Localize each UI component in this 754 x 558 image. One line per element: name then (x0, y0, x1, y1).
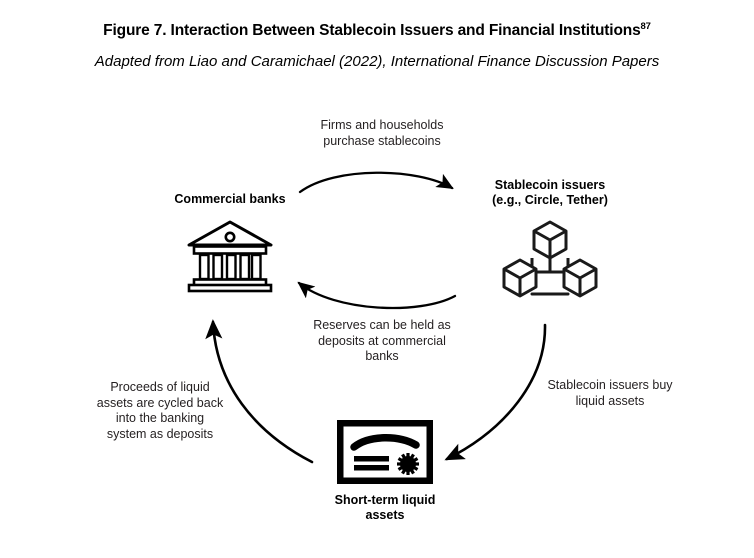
edge-caption-banks-to-issuers: Firms and households purchase stablecoin… (277, 118, 487, 149)
cycle-diagram: Commercial banks Stablecoin issuers (e.g… (0, 0, 754, 558)
blockchain-cubes-icon (502, 218, 598, 306)
node-short-term-liquid-assets-label-line1: Short-term liquid (290, 493, 480, 508)
edge-caption-line: system as deposits (75, 427, 245, 443)
node-short-term-liquid-assets[interactable]: Short-term liquid assets (290, 420, 480, 523)
node-short-term-liquid-assets-label-line2: assets (290, 508, 480, 523)
edge-caption-line: deposits at commercial (277, 334, 487, 350)
arrow-banks-to-issuers (300, 173, 452, 192)
node-commercial-banks[interactable]: Commercial banks (135, 192, 325, 293)
edge-caption-line: Reserves can be held as (277, 318, 487, 334)
edge-caption-issuers-to-liquid-assets: Stablecoin issuers buy liquid assets (520, 378, 700, 409)
edge-caption-line: Proceeds of liquid (75, 380, 245, 396)
edge-caption-liquid-assets-to-banks: Proceeds of liquid assets are cycled bac… (75, 380, 245, 442)
edge-caption-line: purchase stablecoins (277, 134, 487, 150)
edge-caption-line: assets are cycled back (75, 396, 245, 412)
edge-caption-line: banks (277, 349, 487, 365)
bank-icon (186, 219, 274, 293)
node-stablecoin-issuers[interactable]: Stablecoin issuers (e.g., Circle, Tether… (455, 178, 645, 306)
edge-caption-line: into the banking (75, 411, 245, 427)
certificate-icon (337, 420, 433, 484)
edge-caption-line: Firms and households (277, 118, 487, 134)
edge-caption-issuers-to-banks: Reserves can be held as deposits at comm… (277, 318, 487, 365)
edge-caption-line: Stablecoin issuers buy (520, 378, 700, 394)
node-stablecoin-issuers-label-line2: (e.g., Circle, Tether) (455, 193, 645, 208)
edge-caption-line: liquid assets (520, 394, 700, 410)
node-stablecoin-issuers-label-line1: Stablecoin issuers (455, 178, 645, 193)
node-commercial-banks-label: Commercial banks (135, 192, 325, 207)
